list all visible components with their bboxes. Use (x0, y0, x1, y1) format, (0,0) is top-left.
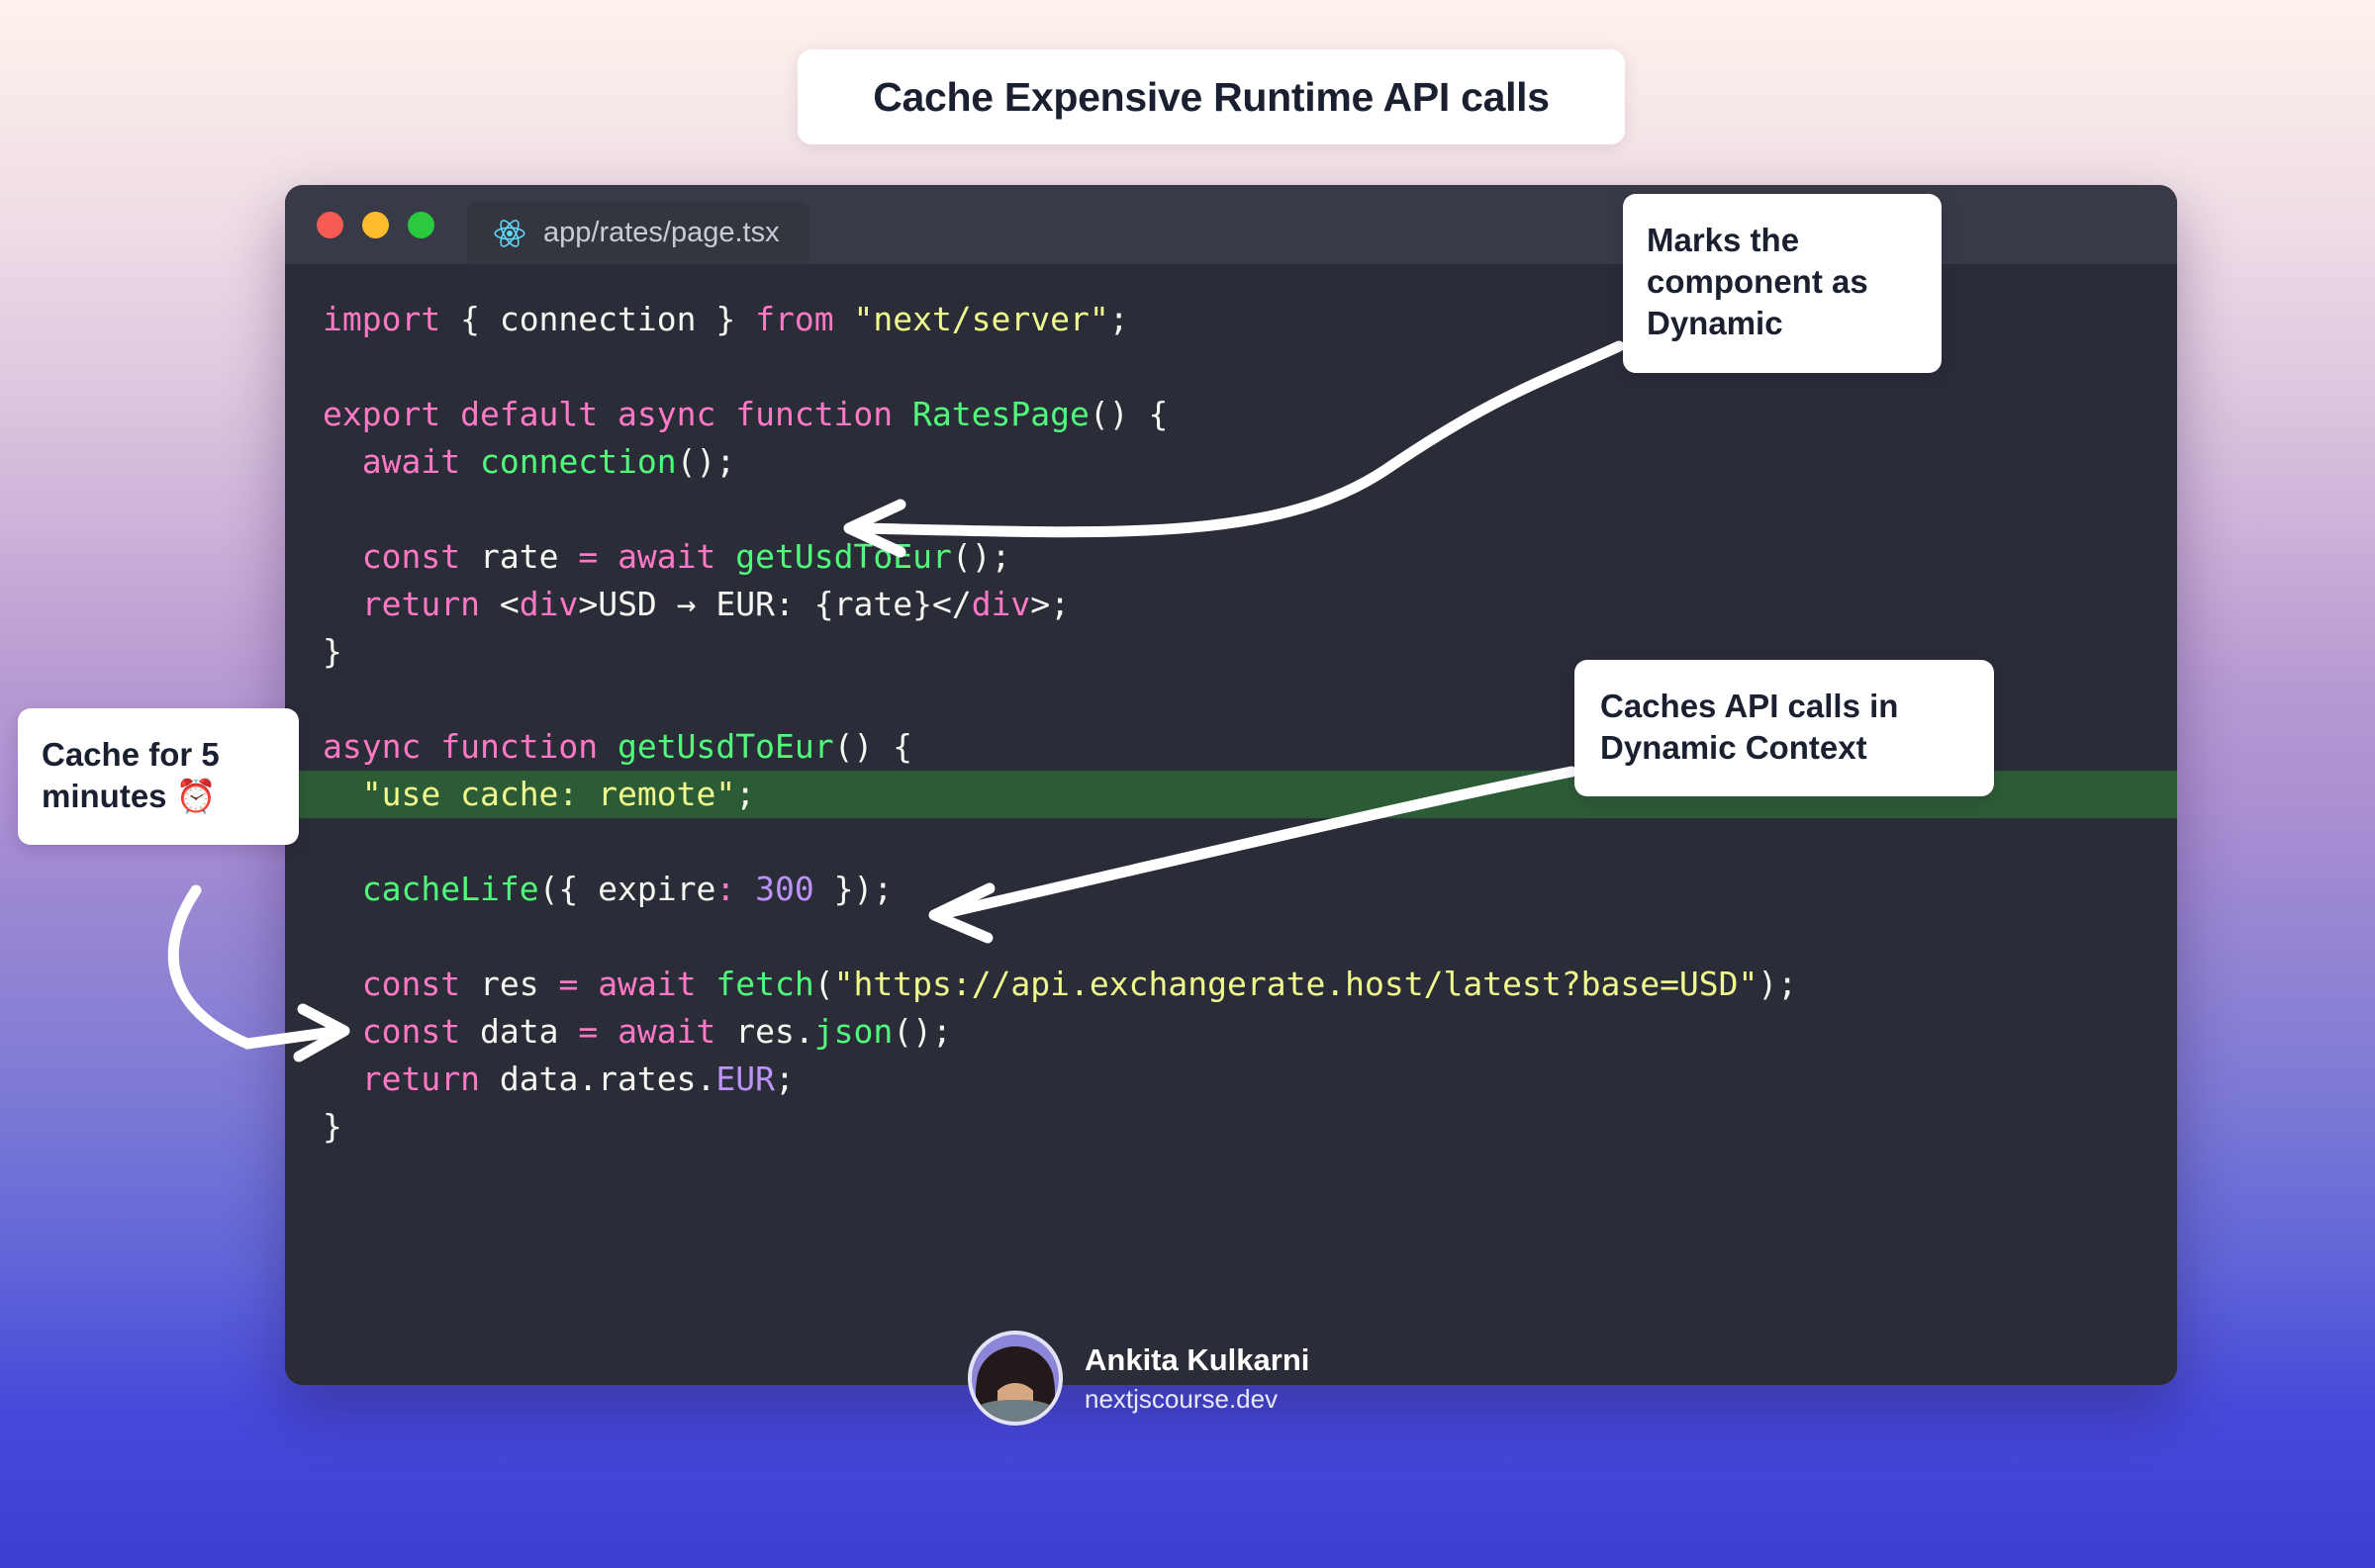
traffic-light-buttons[interactable] (317, 212, 434, 238)
editor-tab-label: app/rates/page.tsx (543, 217, 780, 249)
code-token: fetch (715, 965, 813, 1003)
code-token (323, 537, 362, 576)
code-token: data (460, 1012, 578, 1051)
code-token: (); (952, 537, 1011, 576)
code-line[interactable]: export default async function RatesPage(… (285, 391, 2177, 438)
code-token: : (715, 870, 735, 908)
code-token: () { (834, 727, 912, 766)
code-token: < (480, 585, 520, 623)
code-token (715, 537, 735, 576)
code-token: } (323, 1107, 342, 1146)
code-token: "use cache: remote" (362, 775, 736, 813)
close-window-icon[interactable] (317, 212, 343, 238)
code-token: = (578, 1012, 598, 1051)
code-token: { connection } (440, 300, 755, 338)
code-token: const (362, 965, 460, 1003)
code-line[interactable] (285, 818, 2177, 866)
code-token (323, 442, 362, 481)
code-token: = (558, 965, 578, 1003)
code-token: await (617, 537, 715, 576)
code-token: getUsdToEur (617, 727, 834, 766)
code-token: (); (893, 1012, 952, 1051)
maximize-window-icon[interactable] (408, 212, 434, 238)
code-token: return (362, 585, 480, 623)
code-line[interactable] (285, 486, 2177, 533)
code-token: >USD → EUR: {rate}</ (578, 585, 971, 623)
code-token: await (362, 442, 460, 481)
code-line[interactable]: } (285, 1103, 2177, 1151)
code-token: RatesPage (912, 395, 1090, 433)
avatar-shoulders (973, 1400, 1058, 1426)
code-token: ({ expire (539, 870, 716, 908)
page-title: Cache Expensive Runtime API calls (873, 74, 1550, 121)
editor-tab-app-rates-page[interactable]: app/rates/page.tsx (467, 202, 809, 264)
code-line[interactable]: cacheLife({ expire: 300 }); (285, 866, 2177, 913)
code-token: const (362, 1012, 460, 1051)
minimize-window-icon[interactable] (362, 212, 389, 238)
code-token: return (362, 1060, 480, 1098)
code-token: ; (775, 1060, 795, 1098)
code-token (323, 775, 362, 813)
code-token: >; (1030, 585, 1070, 623)
code-token: res (460, 965, 558, 1003)
code-token (598, 727, 617, 766)
code-token: json (814, 1012, 893, 1051)
code-line[interactable] (285, 913, 2177, 961)
code-token (893, 395, 912, 433)
code-token: await (598, 965, 696, 1003)
code-token: div (972, 585, 1031, 623)
code-token: cacheLife (362, 870, 539, 908)
code-line[interactable]: return <div>USD → EUR: {rate}</div>; (285, 581, 2177, 628)
code-token: }); (814, 870, 893, 908)
code-token: import (323, 300, 440, 338)
title-banner: Cache Expensive Runtime API calls (798, 49, 1625, 144)
code-token (735, 870, 755, 908)
callout-cache-5-minutes: Cache for 5 minutes ⏰ (18, 708, 299, 845)
code-token (323, 1060, 362, 1098)
code-token: async function (323, 727, 598, 766)
code-token: (); (677, 442, 736, 481)
code-token: getUsdToEur (735, 537, 952, 576)
code-token (323, 1012, 362, 1051)
code-token (578, 965, 598, 1003)
callout-marks-dynamic: Marks the component as Dynamic (1623, 194, 1942, 373)
code-line[interactable]: await connection(); (285, 438, 2177, 486)
code-line[interactable]: const data = await res.json(); (285, 1008, 2177, 1056)
code-token: ); (1757, 965, 1797, 1003)
code-token: const (362, 537, 460, 576)
code-line[interactable]: const res = await fetch("https://api.exc… (285, 961, 2177, 1008)
code-token: ; (735, 775, 755, 813)
code-token (697, 965, 716, 1003)
code-token: EUR (715, 1060, 775, 1098)
code-token: data.rates. (480, 1060, 715, 1098)
code-token: "next/server" (853, 300, 1108, 338)
code-token (460, 442, 480, 481)
code-token: div (520, 585, 579, 623)
code-token (323, 585, 362, 623)
code-token: export default async function (323, 395, 893, 433)
arrow-cache5-path (173, 890, 247, 1044)
code-token: 300 (755, 870, 814, 908)
react-logo-icon (493, 217, 526, 250)
code-token: await (617, 1012, 715, 1051)
avatar (968, 1331, 1063, 1426)
code-token (323, 965, 362, 1003)
author-website: nextjscourse.dev (1085, 1384, 1309, 1415)
code-token (834, 300, 854, 338)
code-line[interactable]: return data.rates.EUR; (285, 1056, 2177, 1103)
code-token (598, 537, 617, 576)
callout-caches-text: Caches API calls in Dynamic Context (1600, 686, 1972, 769)
code-token: connection (480, 442, 677, 481)
callout-cache5-text: Cache for 5 minutes ⏰ (42, 734, 279, 817)
code-token: from (755, 300, 833, 338)
author-name: Ankita Kulkarni (1085, 1342, 1309, 1378)
code-token (598, 1012, 617, 1051)
code-token: res. (715, 1012, 813, 1051)
code-token (323, 870, 362, 908)
code-token: } (323, 632, 342, 671)
code-token: = (578, 537, 598, 576)
code-line[interactable]: const rate = await getUsdToEur(); (285, 533, 2177, 581)
code-editor-area[interactable]: import { connection } from "next/server"… (285, 264, 2177, 1385)
code-token: ( (814, 965, 834, 1003)
author-credit: Ankita Kulkarni nextjscourse.dev (968, 1331, 1309, 1426)
code-token: () { (1090, 395, 1168, 433)
code-token: "https://api.exchangerate.host/latest?ba… (834, 965, 1758, 1003)
code-token: ; (1109, 300, 1129, 338)
callout-dynamic-text: Marks the component as Dynamic (1647, 220, 1918, 345)
callout-caches-api: Caches API calls in Dynamic Context (1574, 660, 1994, 796)
code-token: rate (460, 537, 578, 576)
